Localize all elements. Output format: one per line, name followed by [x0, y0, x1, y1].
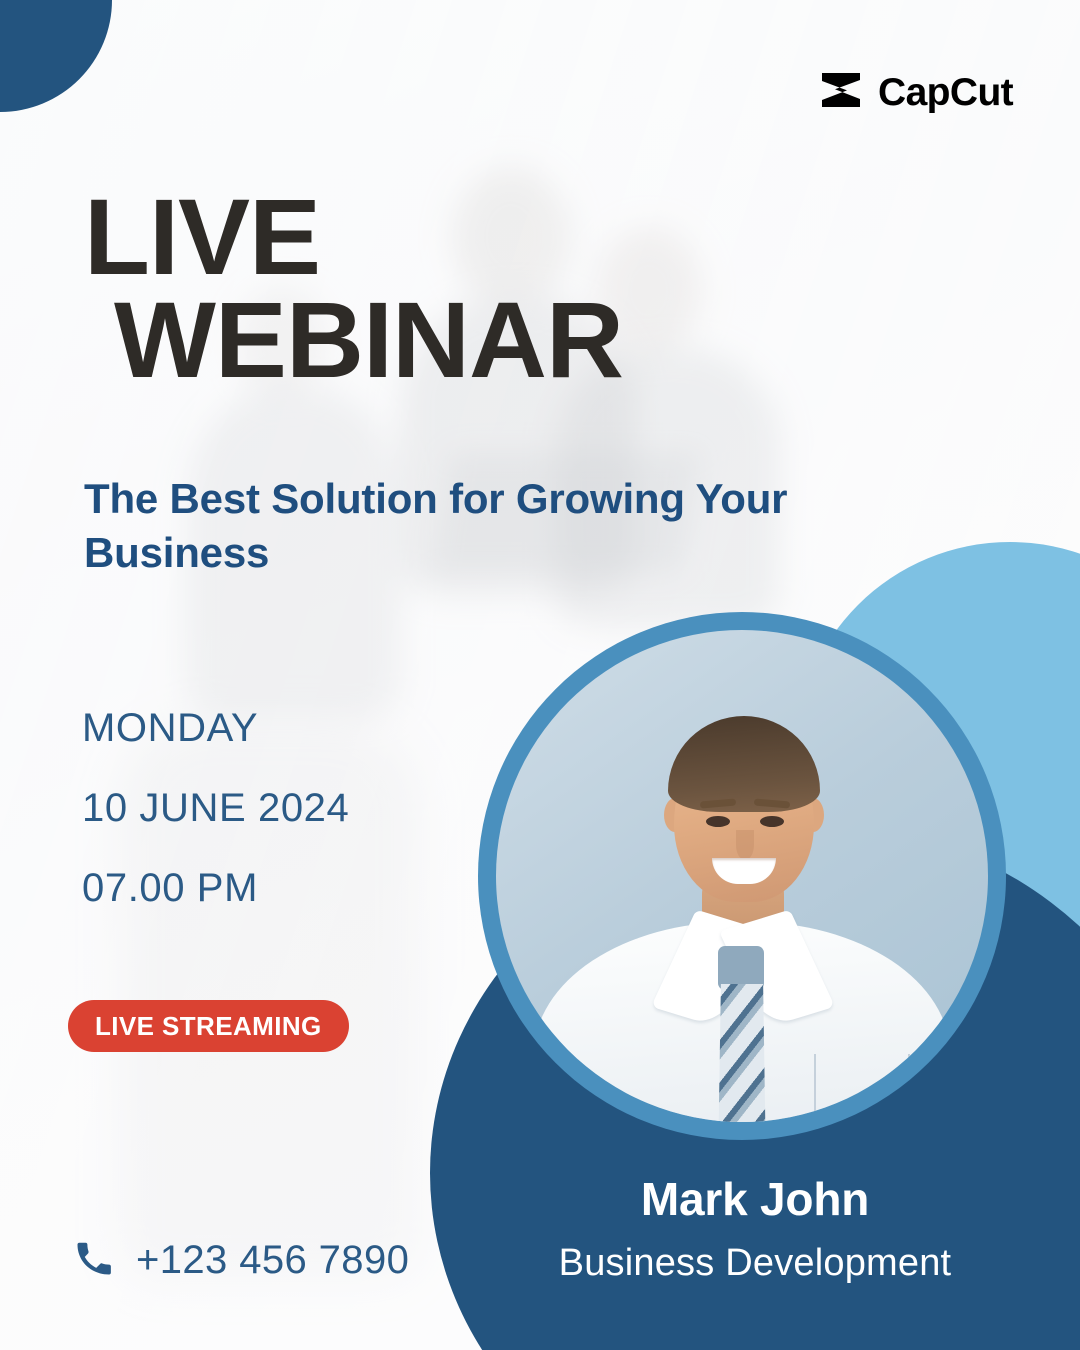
phone-icon	[72, 1236, 116, 1285]
schedule-time: 07.00 PM	[82, 866, 349, 911]
portrait-tie-knot	[718, 946, 764, 990]
capcut-logo: CapCut	[818, 70, 1013, 115]
portrait-hair	[668, 716, 820, 812]
speaker-role: Business Development	[430, 1242, 1080, 1285]
capcut-bowtie-icon	[818, 70, 864, 115]
speaker-name: Mark John	[430, 1172, 1080, 1226]
schedule-date: 10 JUNE 2024	[82, 786, 349, 831]
subtitle: The Best Solution for Growing Your Busin…	[84, 472, 844, 580]
contact-phone-row[interactable]: +123 456 7890	[72, 1236, 409, 1285]
portrait-nose	[736, 830, 754, 860]
webinar-poster: CapCut LIVE WEBINAR The Best Solution fo…	[0, 0, 1080, 1350]
phone-number: +123 456 7890	[136, 1238, 409, 1283]
avatar	[496, 630, 988, 1122]
speaker-photo-ring	[478, 612, 1006, 1140]
headline-line-2: WEBINAR	[114, 289, 784, 392]
headline-line-1: LIVE	[84, 186, 784, 289]
capcut-logo-text: CapCut	[878, 73, 1013, 112]
portrait-eye-right	[760, 816, 784, 827]
schedule-block: MONDAY 10 JUNE 2024 07.00 PM	[82, 706, 349, 911]
schedule-day: MONDAY	[82, 706, 349, 751]
page-title: LIVE WEBINAR	[84, 186, 784, 391]
portrait-shirt-pocket	[814, 1054, 910, 1122]
portrait-eye-left	[706, 816, 730, 827]
live-streaming-badge[interactable]: LIVE STREAMING	[68, 1000, 349, 1052]
portrait-tie	[718, 984, 766, 1122]
